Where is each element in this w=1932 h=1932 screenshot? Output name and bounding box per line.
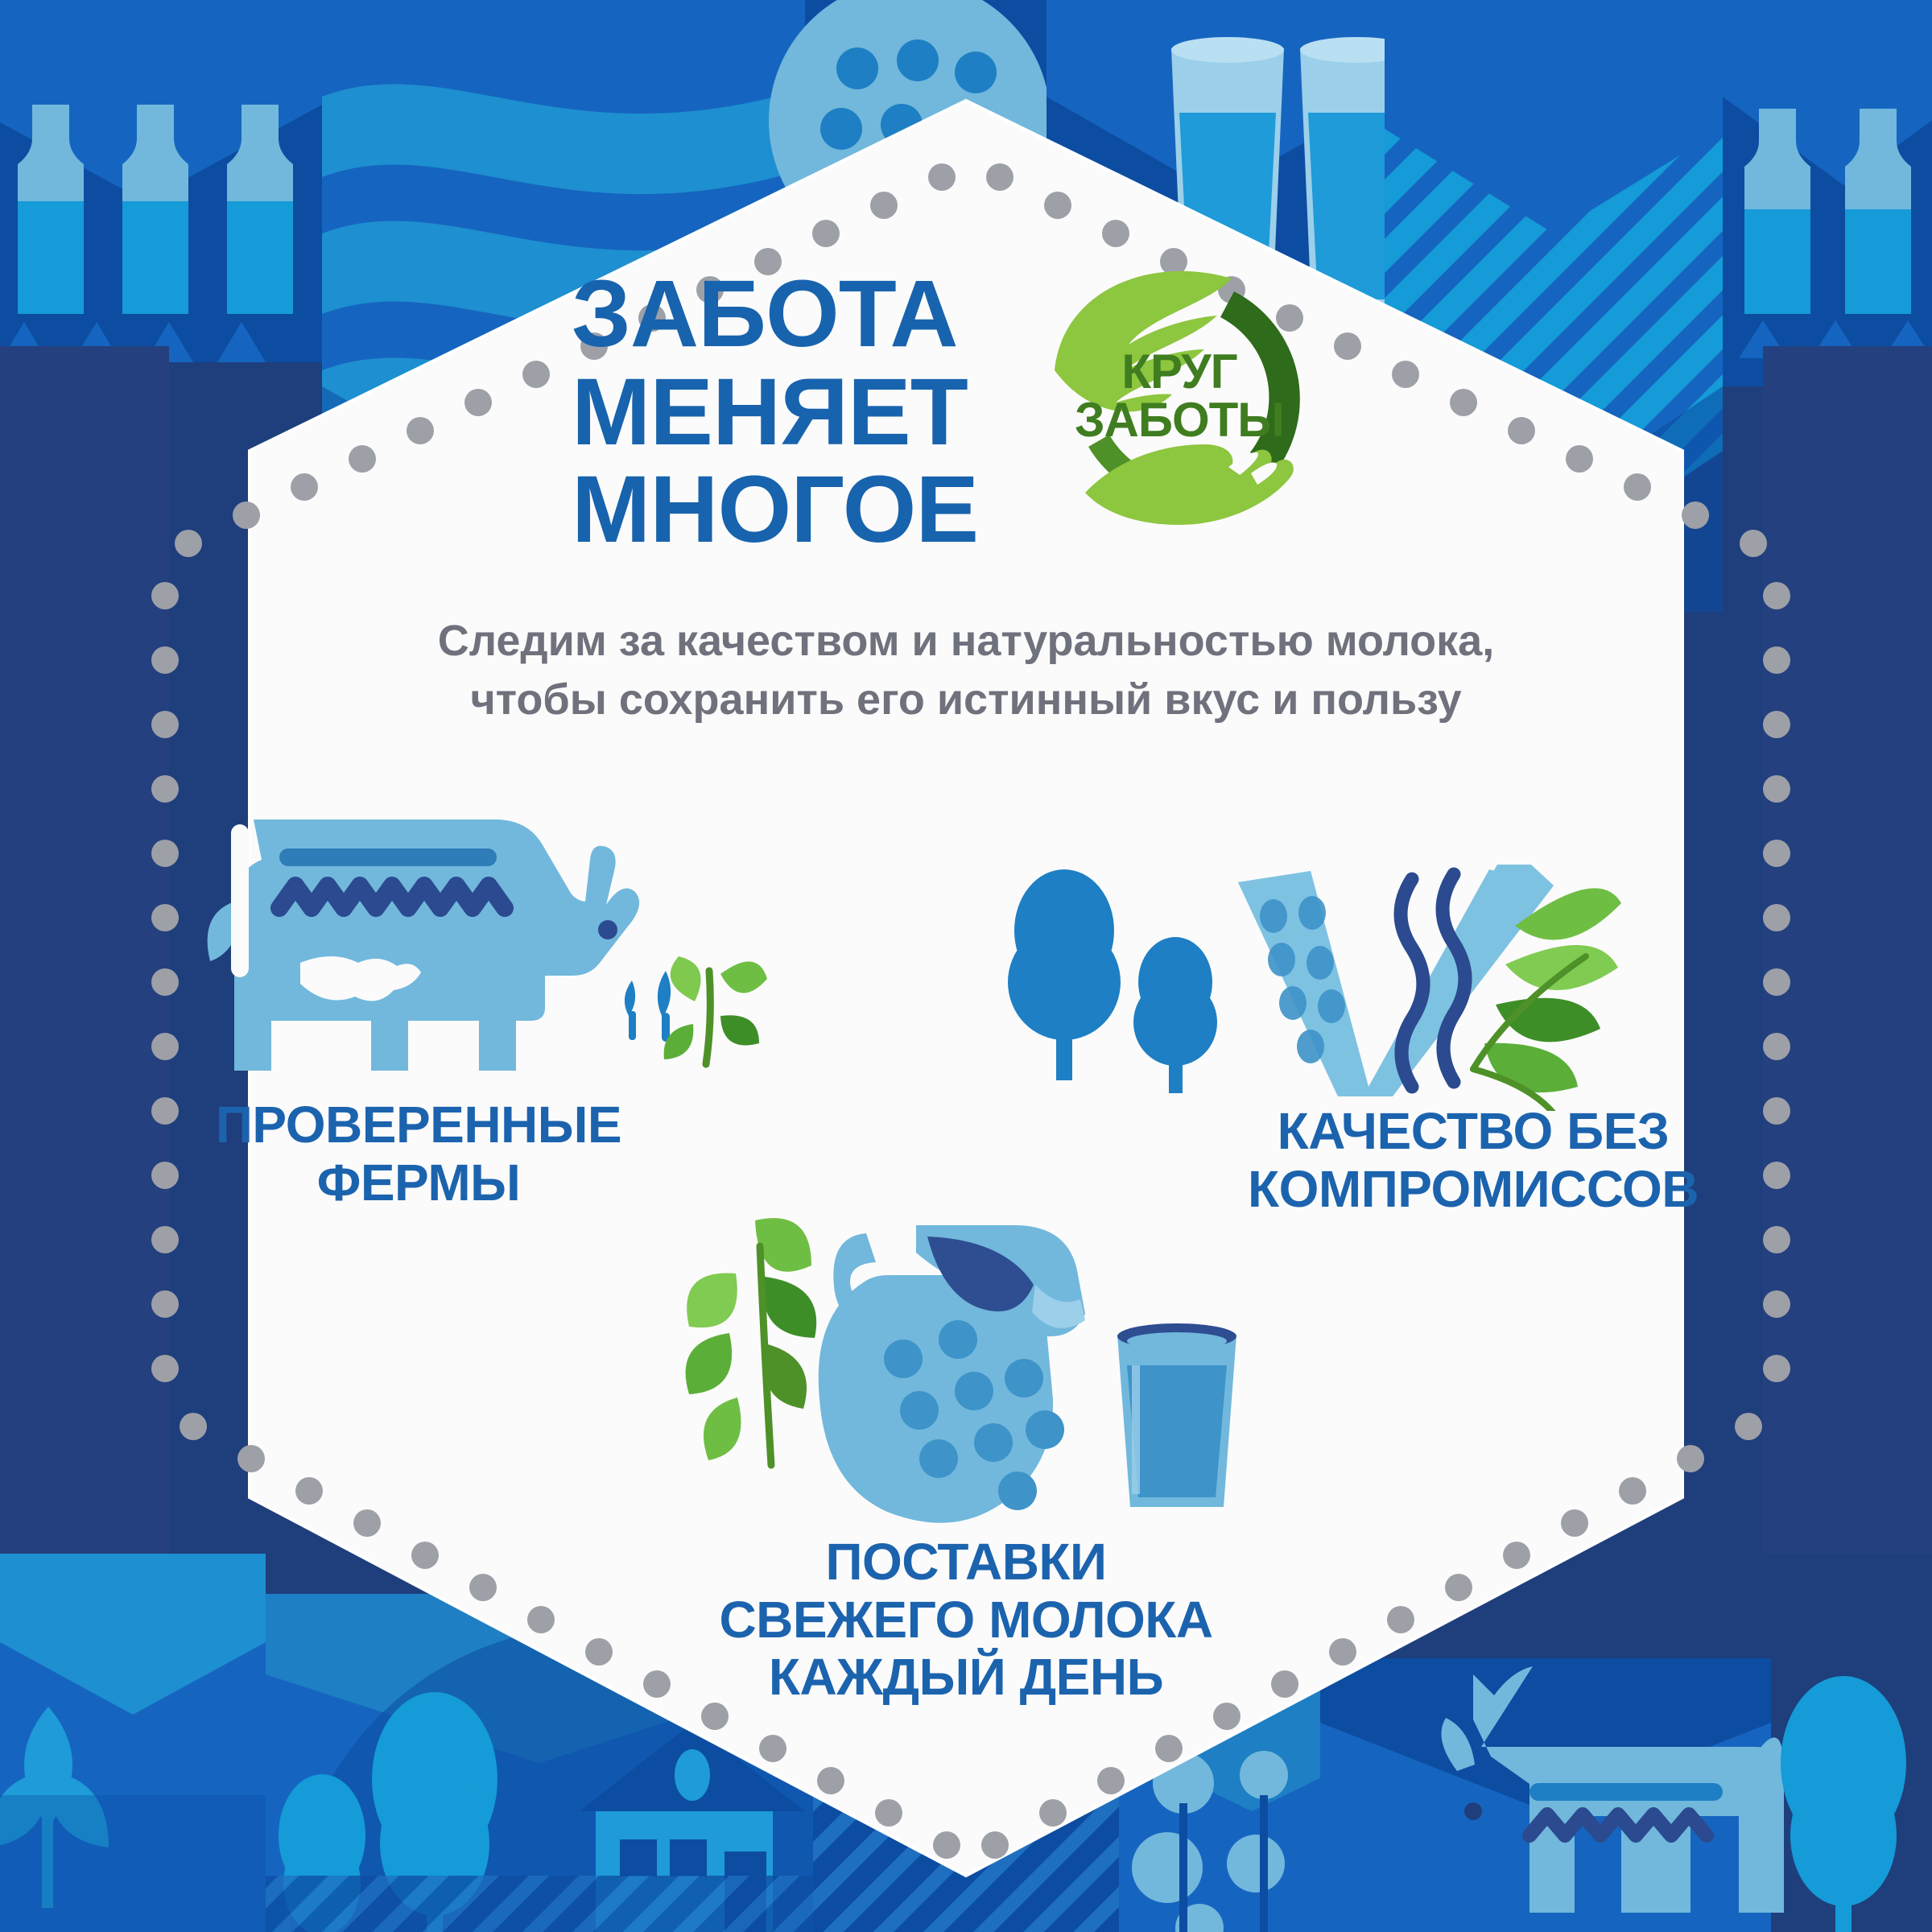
title-line-3: МНОГОЕ — [572, 461, 1071, 559]
logo-wordmark: КРУГ ЗАБОТЫ — [1038, 348, 1320, 444]
delivery-label-line-1: ПОСТАВКИ — [563, 1534, 1368, 1591]
cow-icon — [205, 805, 769, 1071]
feature-label-proven-farms: ПРОВЕРЕННЫЕ ФЕРМЫ — [137, 1096, 700, 1212]
delivery-label-line-3: КАЖДЫЙ ДЕНЬ — [563, 1649, 1368, 1707]
checkmark-trees-icon — [990, 853, 1650, 1111]
green-sprig-icon — [664, 956, 767, 1064]
delivery-label-line-2: СВЕЖЕГО МОЛОКА — [563, 1591, 1368, 1649]
feature-label-quality: КАЧЕСТВО БЕЗ КОМПРОМИССОВ — [1143, 1103, 1803, 1218]
tree-icon-small — [1133, 937, 1217, 1093]
title-line-1: ЗАБОТА — [572, 266, 1071, 364]
farms-label-line-2: ФЕРМЫ — [137, 1154, 700, 1212]
farms-label-line-1: ПРОВЕРЕННЫЕ — [137, 1096, 700, 1154]
tree-icon-large — [1008, 869, 1121, 1080]
milk-jug-glass-icon — [660, 1207, 1272, 1529]
feature-label-delivery: ПОСТАВКИ СВЕЖЕГО МОЛОКА КАЖДЫЙ ДЕНЬ — [563, 1534, 1368, 1707]
subtitle-line-1: Следим за качеством и натуральностью мол… — [322, 612, 1610, 671]
subtitle: Следим за качеством и натуральностью мол… — [322, 612, 1610, 730]
krug-zaboty-logo: КРУГ ЗАБОТЫ — [1038, 242, 1320, 531]
poster-canvas: ЗАБОТА МЕНЯЕТ МНОГОЕ КРУГ ЗАБОТЫ — [0, 0, 1932, 1932]
grass-blades-icon — [625, 971, 671, 1042]
title-line-2: МЕНЯЕТ — [572, 364, 1071, 462]
logo-line-2: ЗАБОТЫ — [1038, 396, 1320, 444]
page-title: ЗАБОТА МЕНЯЕТ МНОГОЕ — [572, 266, 1071, 559]
green-plant-icon — [686, 1218, 817, 1465]
glass-shape — [1117, 1323, 1236, 1507]
jug-shape — [819, 1225, 1085, 1523]
logo-line-1: КРУГ — [1038, 348, 1320, 396]
subtitle-line-2: чтобы сохранить его истинный вкус и поль… — [322, 671, 1610, 729]
quality-label-line-1: КАЧЕСТВО БЕЗ — [1143, 1103, 1803, 1161]
